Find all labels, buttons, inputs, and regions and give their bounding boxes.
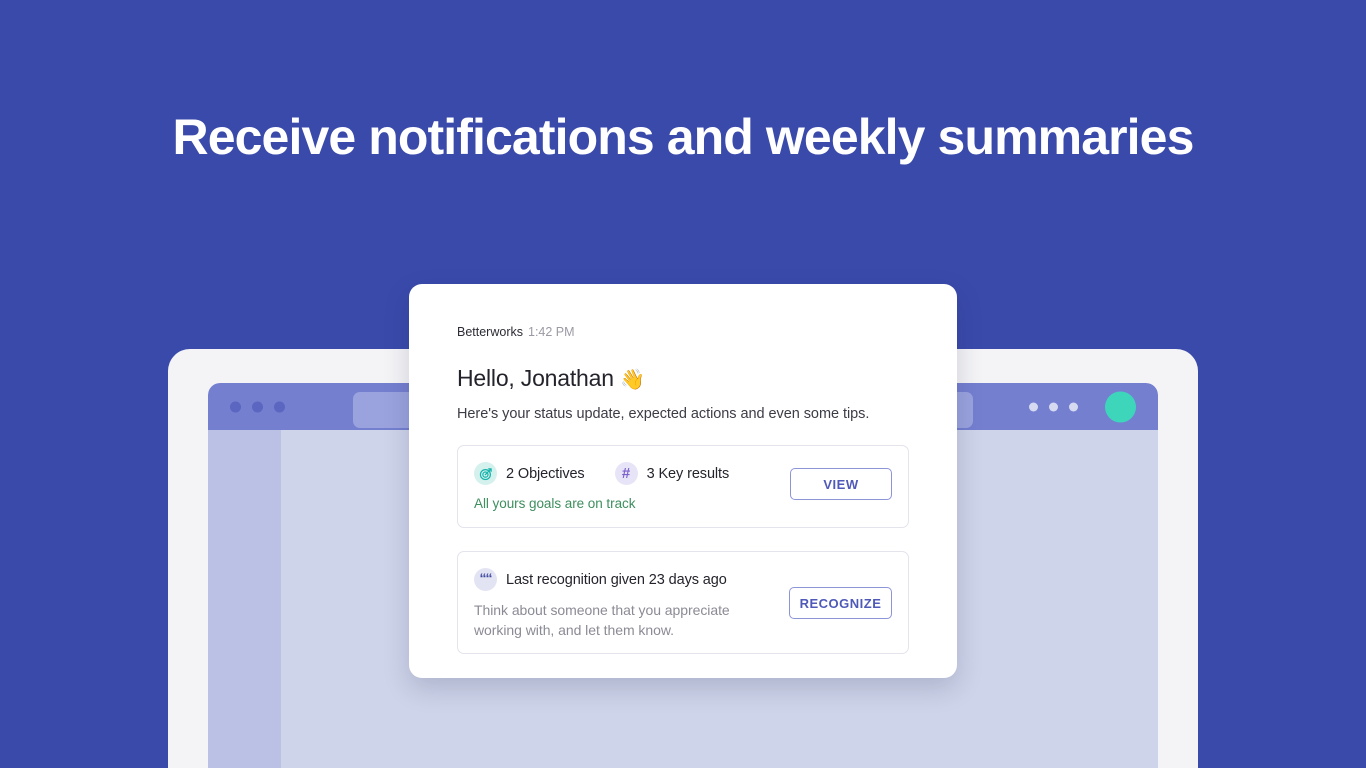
window-dot-icon (230, 401, 241, 412)
window-controls-left (230, 401, 285, 412)
menu-dot-icon (1049, 402, 1058, 411)
recognition-card: ““ Last recognition given 23 days ago Th… (457, 551, 909, 654)
recognize-button[interactable]: RECOGNIZE (789, 587, 892, 619)
quote-icon: ““ (474, 568, 497, 591)
greeting-text: Hello, Jonathan (457, 365, 614, 391)
goals-summary-card: 2 Objectives # 3 Key results All yours g… (457, 445, 909, 528)
waving-hand-icon: 👋 (620, 369, 645, 391)
greeting: Hello, Jonathan 👋 (457, 363, 909, 395)
objectives-metric: 2 Objectives (474, 462, 585, 485)
notification-meta: Betterworks1:42 PM (457, 324, 909, 340)
view-button[interactable]: VIEW (790, 468, 892, 500)
objectives-label: 2 Objectives (506, 466, 585, 482)
key-results-metric: # 3 Key results (615, 462, 730, 485)
page-title: Receive notifications and weekly summari… (0, 104, 1366, 170)
browser-sidebar-placeholder (208, 430, 281, 768)
recognition-body: Think about someone that you appreciate … (474, 600, 749, 640)
recognition-title: Last recognition given 23 days ago (506, 572, 727, 588)
window-controls-right (1029, 402, 1078, 411)
window-dot-icon (252, 401, 263, 412)
menu-dot-icon (1069, 402, 1078, 411)
menu-dot-icon (1029, 402, 1038, 411)
key-results-label: 3 Key results (647, 466, 730, 482)
window-dot-icon (274, 401, 285, 412)
app-name: Betterworks (457, 325, 523, 339)
avatar[interactable] (1105, 391, 1136, 422)
timestamp: 1:42 PM (528, 325, 575, 339)
hash-icon: # (615, 462, 638, 485)
notification-card: Betterworks1:42 PM Hello, Jonathan 👋 Her… (409, 284, 957, 678)
target-icon (474, 462, 497, 485)
subtitle: Here's your status update, expected acti… (457, 404, 909, 424)
